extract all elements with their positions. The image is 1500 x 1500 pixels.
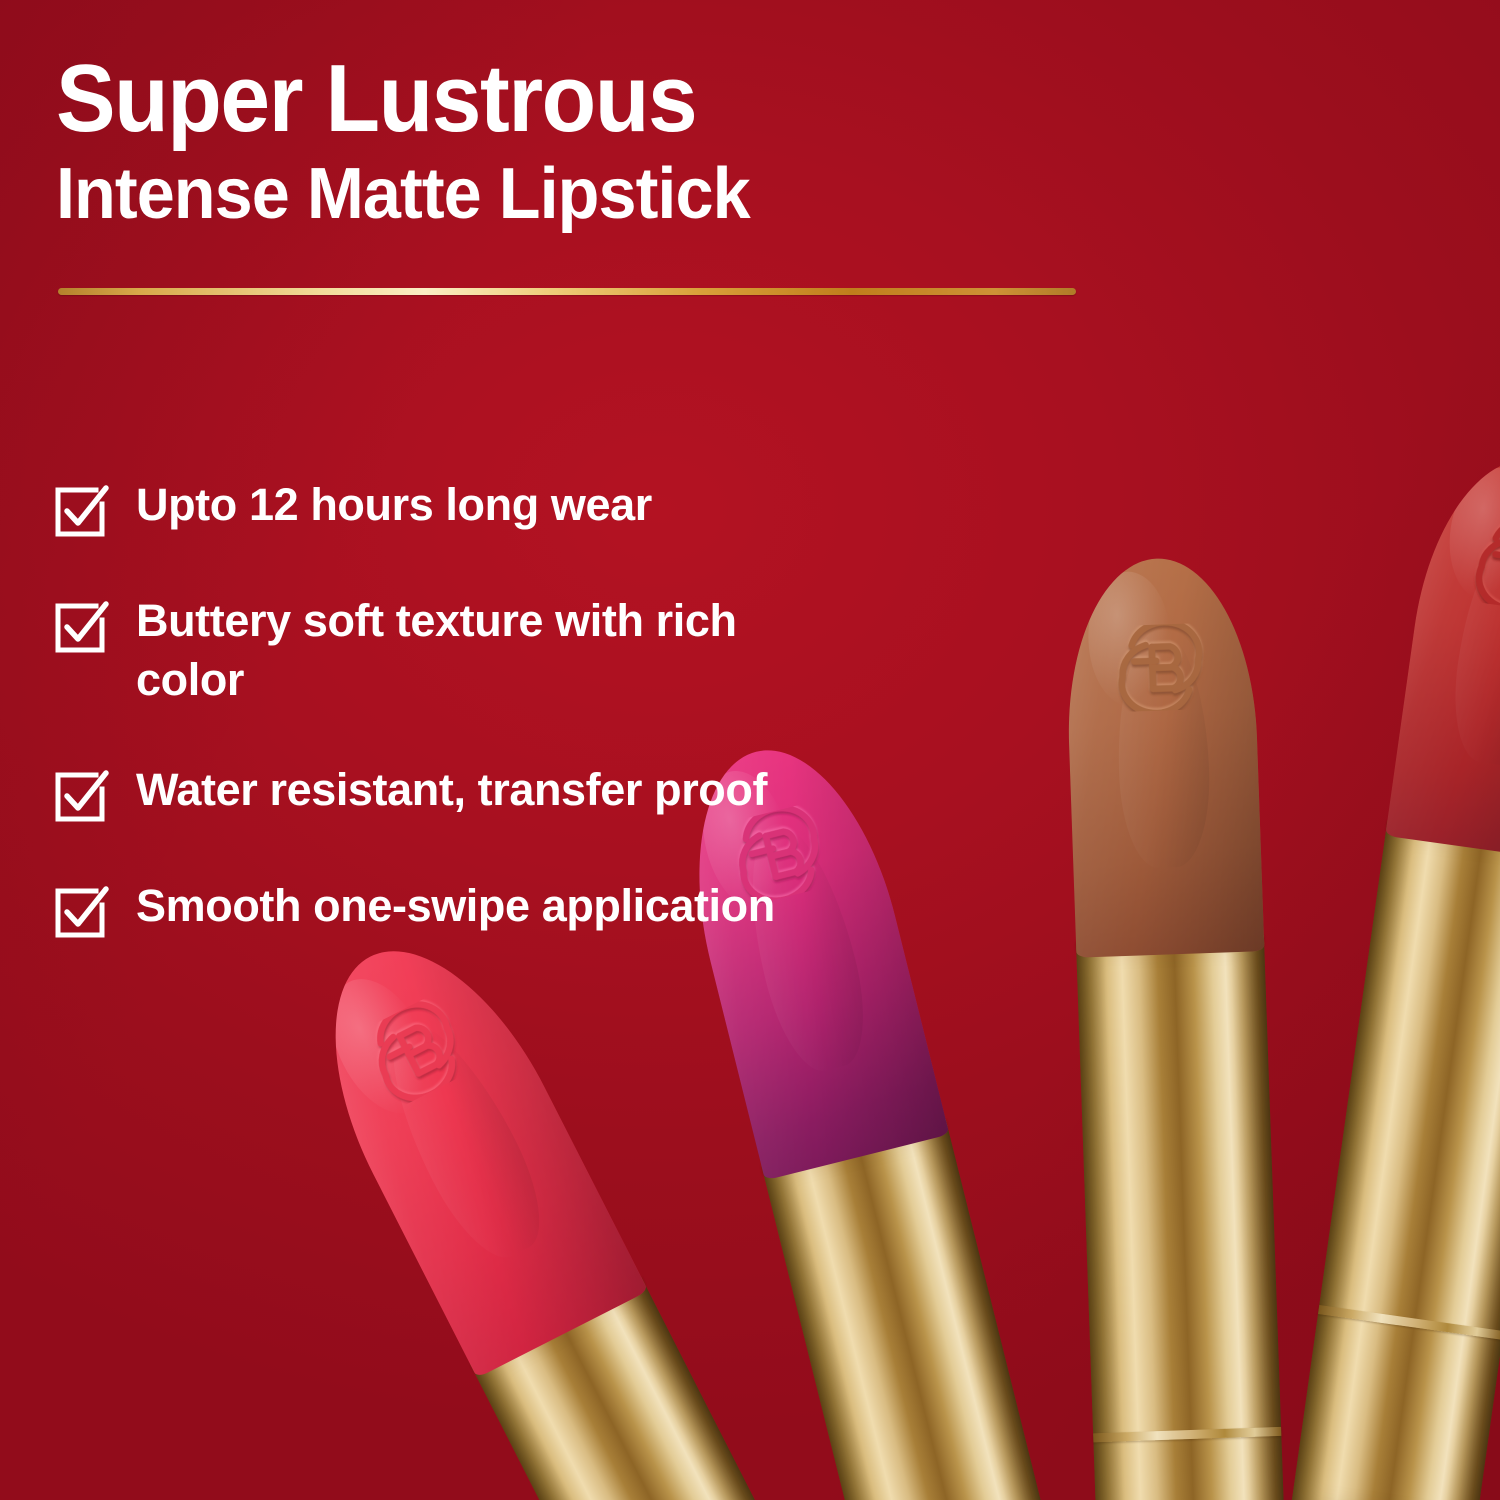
page-title-secondary: Intense Matte Lipstick	[56, 158, 1120, 231]
list-item: Smooth one-swipe application	[52, 877, 792, 941]
list-item-label: Water resistant, transfer proof	[136, 761, 767, 820]
lipstick-barrel	[762, 1121, 1107, 1500]
page-title-primary: Super Lustrous	[56, 52, 1098, 146]
lipstick-bullet	[1385, 447, 1500, 861]
lipstick-barrel	[1291, 822, 1500, 1500]
brand-logo-icon	[1111, 623, 1210, 712]
checkbox-checked-icon	[52, 598, 110, 656]
checkbox-checked-icon	[52, 482, 110, 540]
list-item-label: Smooth one-swipe application	[136, 877, 775, 936]
lipstick-nude-brown	[1063, 555, 1288, 1500]
page-title-block: Super Lustrous Intense Matte Lipstick	[56, 52, 1176, 232]
checkbox-checked-icon	[52, 883, 110, 941]
lipstick-bullet	[1063, 555, 1265, 957]
checkbox-checked-icon	[52, 767, 110, 825]
list-item: Buttery soft texture with rich color	[52, 592, 792, 709]
list-item: Upto 12 hours long wear	[52, 476, 792, 540]
lipstick-classic-red	[1291, 447, 1500, 1500]
feature-list: Upto 12 hours long wear Buttery soft tex…	[52, 476, 792, 941]
lipstick-barrel	[1076, 937, 1288, 1500]
product-feature-banner: Super Lustrous Intense Matte Lipstick Up…	[0, 0, 1500, 1500]
list-item-label: Buttery soft texture with rich color	[136, 592, 776, 709]
lipstick-product-group	[770, 430, 1500, 1500]
gold-divider	[58, 288, 1076, 295]
list-item-label: Upto 12 hours long wear	[136, 476, 652, 535]
list-item: Water resistant, transfer proof	[52, 761, 792, 825]
